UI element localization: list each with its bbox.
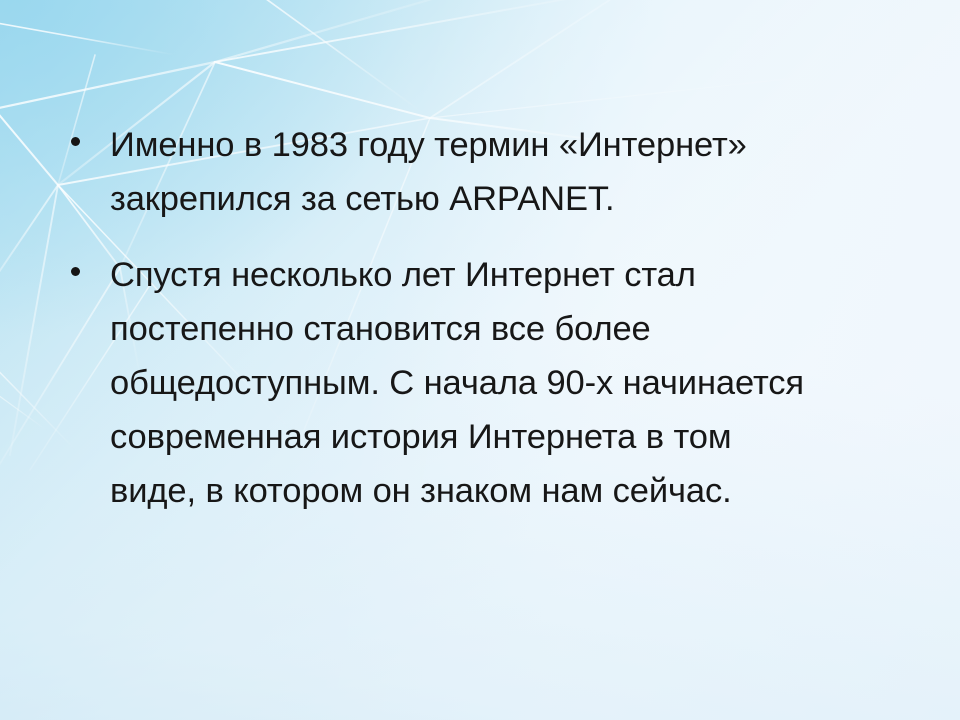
presentation-slide: Именно в 1983 году термин «Интернет» зак…	[0, 0, 960, 720]
list-item: Спустя несколько лет Интернет стал посте…	[62, 248, 907, 518]
bullet-spacer	[62, 234, 907, 248]
bullet-text-1: Именно в 1983 году термин «Интернет» зак…	[110, 118, 907, 226]
list-item: Именно в 1983 году термин «Интернет» зак…	[62, 118, 907, 226]
bullet-point-icon	[62, 248, 110, 276]
slide-body-content: Именно в 1983 году термин «Интернет» зак…	[62, 118, 907, 526]
bullet-text-2: Спустя несколько лет Интернет стал посте…	[110, 248, 907, 518]
bullet-point-icon	[62, 118, 110, 146]
